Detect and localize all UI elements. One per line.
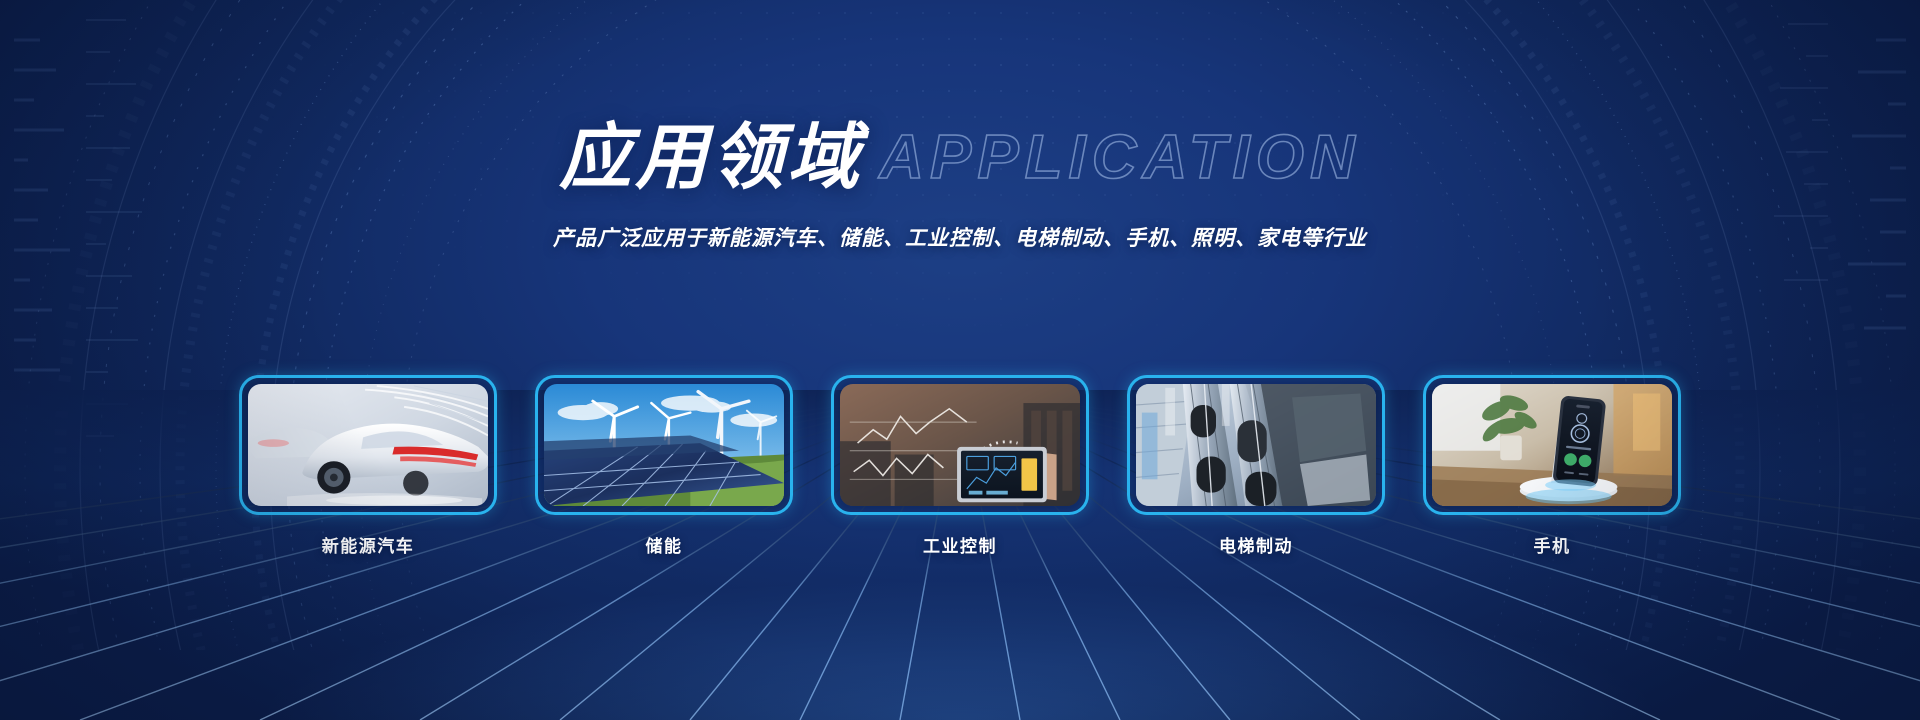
application-card[interactable]: 储能	[535, 375, 793, 557]
card-frame[interactable]	[1127, 375, 1385, 515]
application-card[interactable]: 新能源汽车	[239, 375, 497, 557]
card-frame[interactable]	[239, 375, 497, 515]
card-label: 工业控制	[923, 532, 997, 557]
application-card[interactable]: 工业控制	[831, 375, 1089, 557]
card-frame[interactable]	[1423, 375, 1681, 515]
electric-sports-car-icon	[248, 384, 488, 506]
card-thumbnail	[1432, 384, 1672, 506]
card-thumbnail	[840, 384, 1080, 506]
application-card-list: 新能源汽车	[0, 375, 1920, 557]
card-thumbnail	[248, 384, 488, 506]
card-frame[interactable]	[831, 375, 1089, 515]
card-thumbnail	[544, 384, 784, 506]
card-thumbnail	[1136, 384, 1376, 506]
title-english-outline: APPLICATION	[879, 127, 1361, 189]
application-card[interactable]: 电梯制动	[1127, 375, 1385, 557]
card-label: 新能源汽车	[322, 532, 415, 557]
application-card[interactable]: 手机	[1423, 375, 1681, 557]
page-subtitle: 产品广泛应用于新能源汽车、储能、工业控制、电梯制动、手机、照明、家电等行业	[0, 222, 1920, 252]
page-title: 应用领域APPLICATION	[0, 122, 1920, 194]
smartphone-wireless-charger-icon	[1432, 384, 1672, 506]
solar-panels-wind-turbines-icon	[544, 384, 784, 506]
elevator-shaft-machinery-icon	[1136, 384, 1376, 506]
card-label: 电梯制动	[1219, 532, 1293, 557]
card-label: 储能	[646, 532, 683, 557]
card-frame[interactable]	[535, 375, 793, 515]
industrial-control-tablet-icon	[840, 384, 1080, 506]
card-label: 手机	[1534, 532, 1571, 557]
title-chinese: 应用领域	[559, 122, 863, 194]
application-banner: 应用领域APPLICATION 产品广泛应用于新能源汽车、储能、工业控制、电梯制…	[0, 0, 1920, 720]
